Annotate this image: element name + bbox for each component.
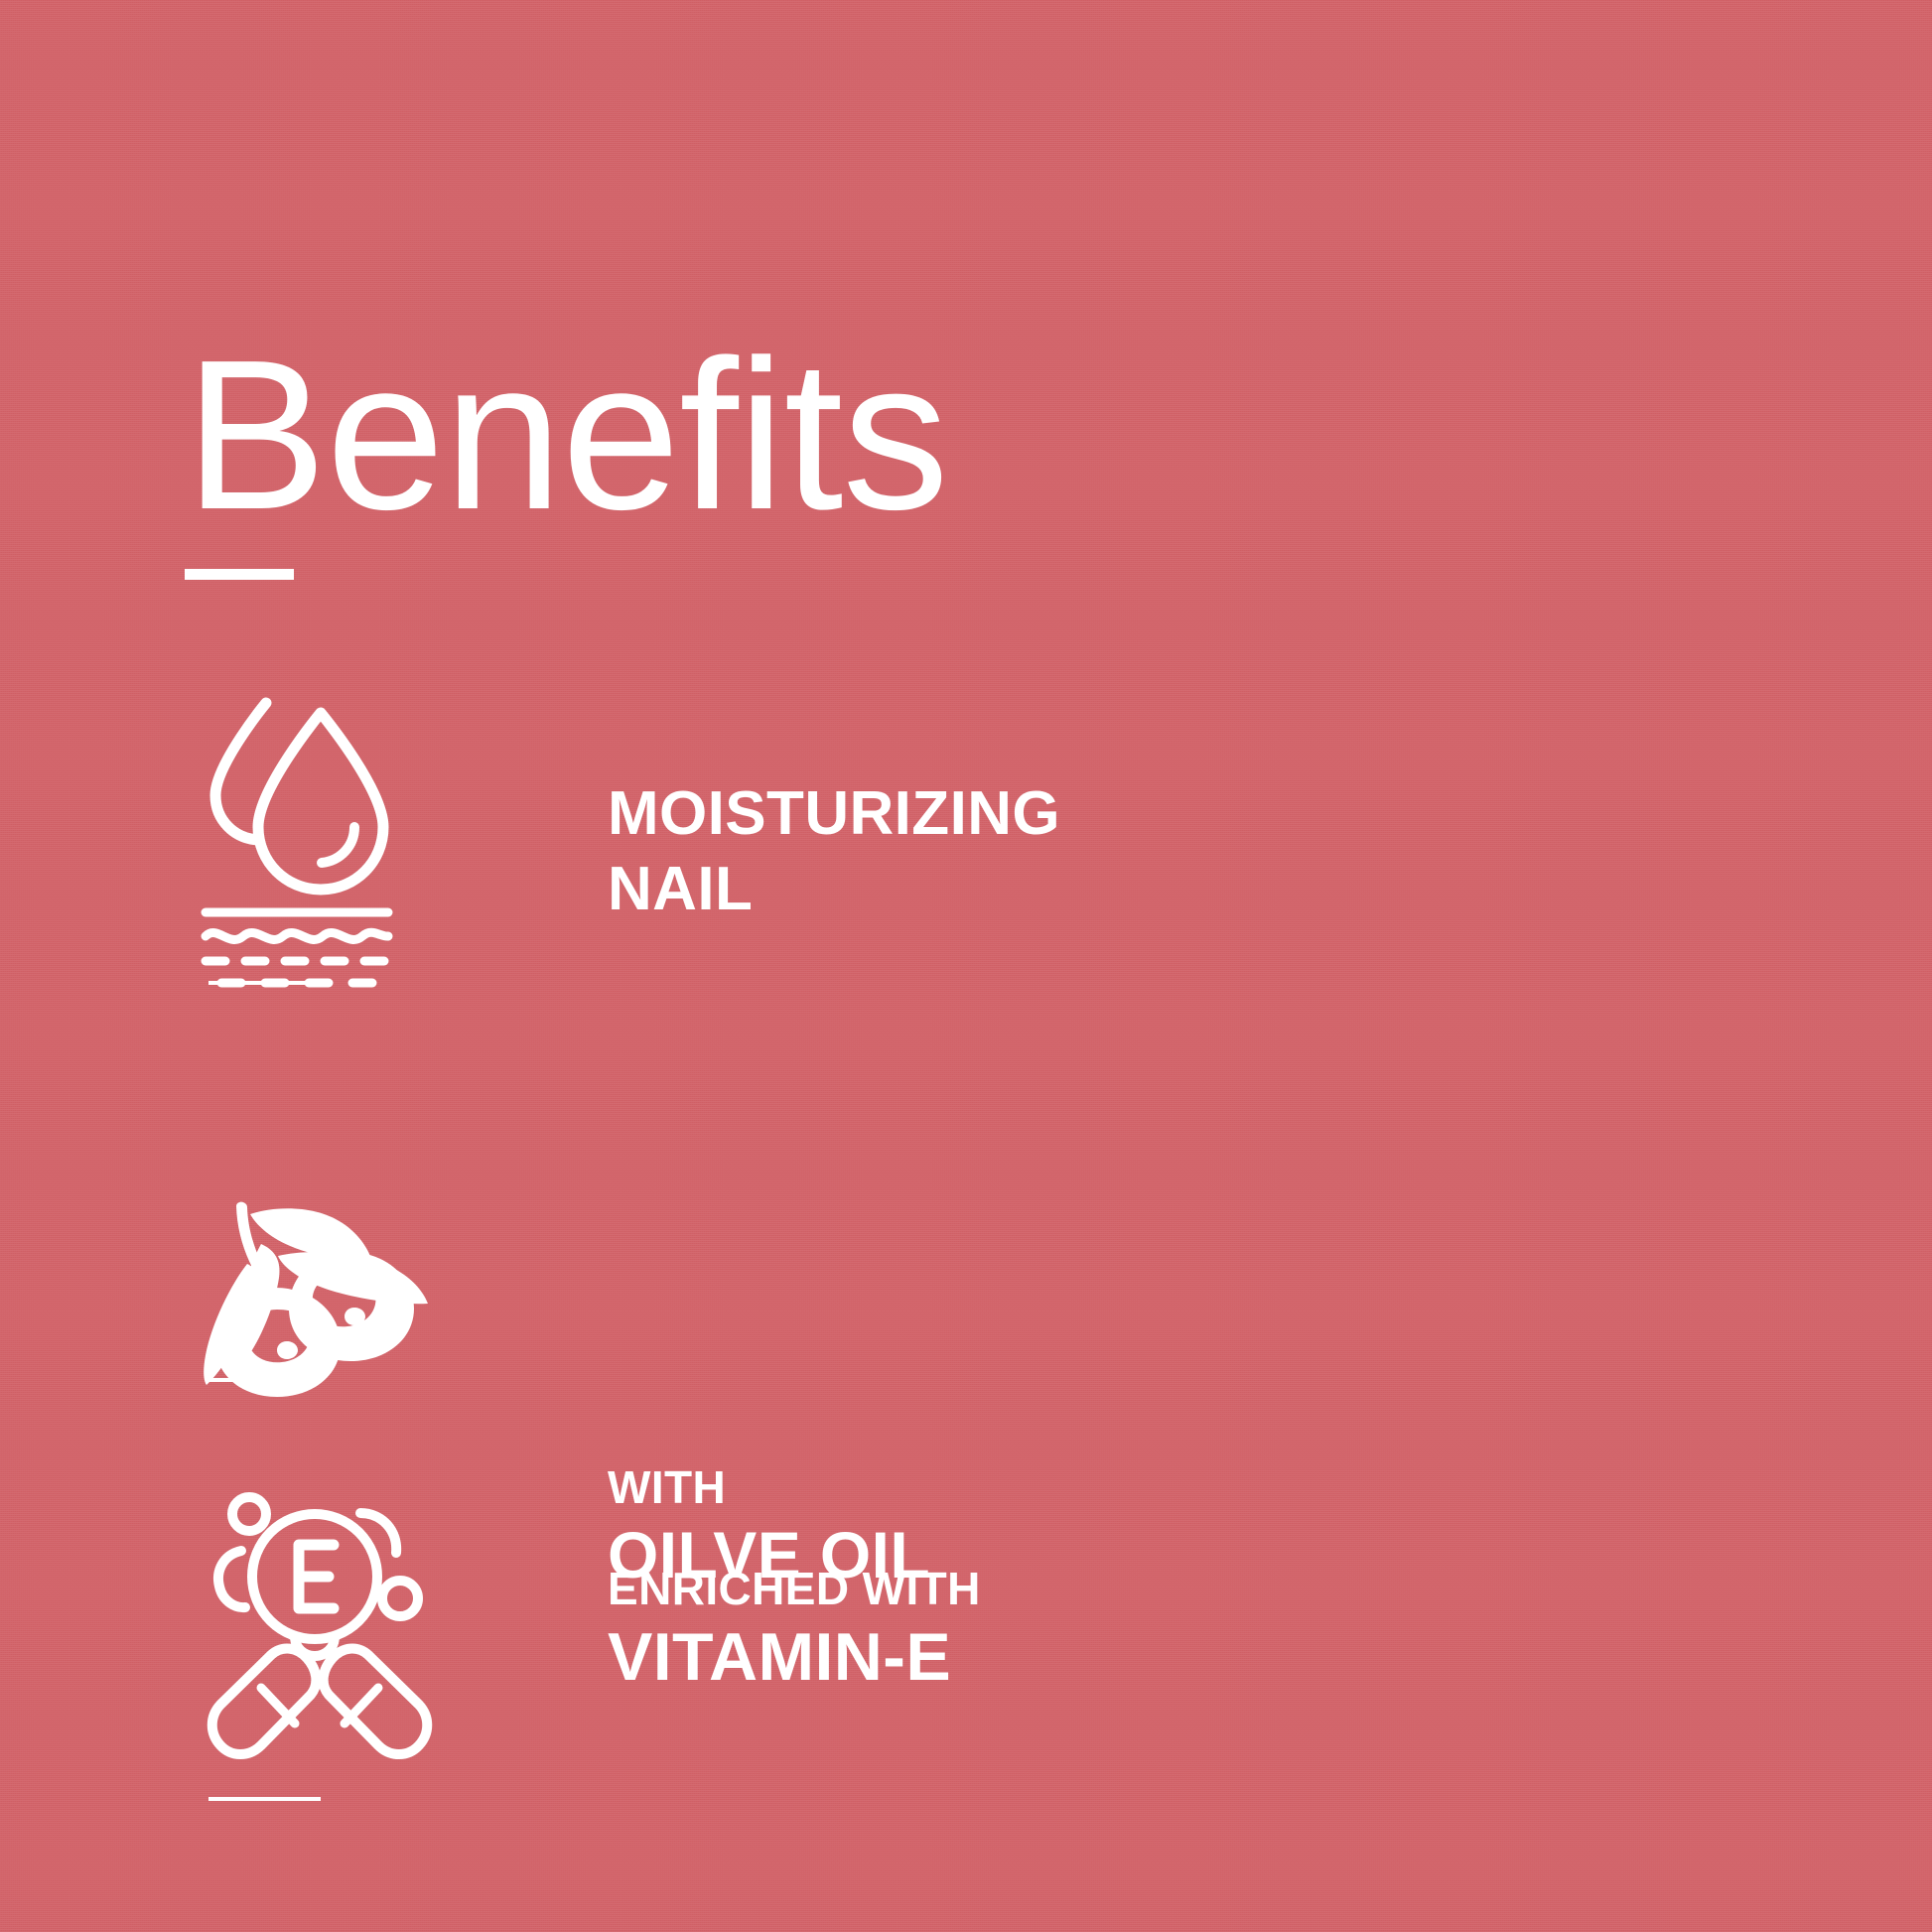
benefit-divider-olive-oil <box>208 1378 321 1382</box>
benefits-poster: Benefits <box>0 0 1932 1932</box>
title-underline-rule <box>185 569 294 580</box>
page-title: Benefits <box>185 328 948 541</box>
vitamin-e-capsules-icon <box>204 1489 482 1787</box>
benefit-title-moisturizing: NAIL <box>608 852 1060 927</box>
benefit-eyebrow-vitamin-e: ENRICHED WITH <box>608 1561 981 1616</box>
water-droplet-skin-layers-icon <box>204 695 482 993</box>
olive-branch-icon <box>204 1196 482 1494</box>
benefits-list: MOISTURIZING NAIL <box>0 695 1932 1876</box>
benefit-title-vitamin-e: VITAMIN-E <box>608 1616 981 1699</box>
benefit-text-moisturizing: MOISTURIZING NAIL <box>608 776 1060 926</box>
page-title-block: Benefits <box>185 328 948 580</box>
benefit-item-vitamin-e: ENRICHED WITH VITAMIN-E <box>0 1459 1932 1876</box>
benefit-eyebrow-moisturizing: MOISTURIZING <box>608 776 1060 852</box>
benefit-divider-vitamin-e <box>208 1797 321 1801</box>
benefit-item-moisturizing: MOISTURIZING NAIL <box>0 695 1932 1042</box>
benefit-item-olive-oil: WITH OILVE OIL <box>0 1042 1932 1459</box>
benefit-divider-moisturizing <box>208 981 321 985</box>
benefit-text-vitamin-e: ENRICHED WITH VITAMIN-E <box>608 1561 981 1699</box>
